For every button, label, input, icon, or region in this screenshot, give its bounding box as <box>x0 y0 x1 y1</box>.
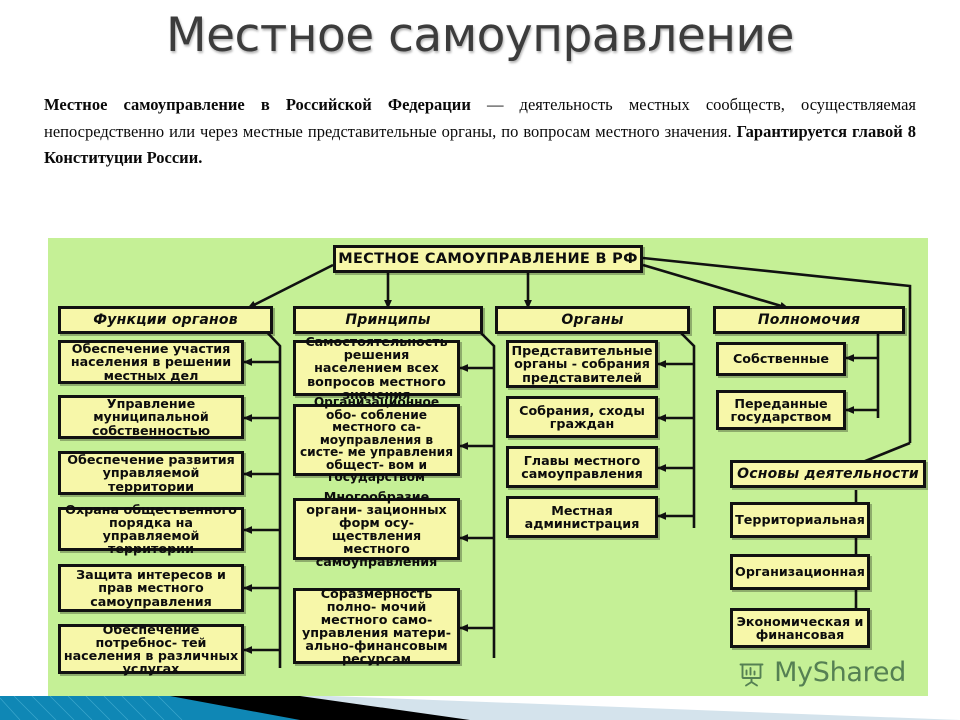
slide-page: Местное самоуправление Местное самоуправ… <box>0 0 960 720</box>
column-header-funkcii-organov[interactable]: Функции органов <box>58 306 273 334</box>
leaf-box[interactable]: Территориальная <box>730 502 870 538</box>
presentation-chart-icon <box>737 658 767 688</box>
leaf-box[interactable]: Местная администрация <box>506 496 658 538</box>
subblock-header-osnovy-deyatelnosti[interactable]: Основы деятельности <box>730 460 926 488</box>
leaf-box[interactable]: Управление муниципальной собственностью <box>58 395 244 439</box>
column-header-organy[interactable]: Органы <box>495 306 690 334</box>
column-header-polnomochiya[interactable]: Полномочия <box>713 306 905 334</box>
column-header-principy[interactable]: Принципы <box>293 306 483 334</box>
leaf-box[interactable]: Главы местного самоуправления <box>506 446 658 488</box>
intro-paragraph: Местное самоуправление в Российской Феде… <box>44 92 916 172</box>
leaf-box[interactable]: Обеспечение потребнос- тей населения в р… <box>58 624 244 674</box>
page-title: Местное самоуправление <box>0 8 960 63</box>
leaf-box[interactable]: Охрана общественного порядка на управляе… <box>58 507 244 551</box>
leaf-box[interactable]: Организационная <box>730 554 870 590</box>
diagram-root-box[interactable]: МЕСТНОЕ САМОУПРАВЛЕНИЕ В РФ <box>333 245 643 273</box>
leaf-box[interactable]: Переданные государством <box>716 390 846 430</box>
footer-decoration <box>0 696 960 720</box>
leaf-box[interactable]: Самостоятельность решения населением все… <box>293 340 460 396</box>
leaf-box[interactable]: Обеспечение участия населения в решении … <box>58 340 244 384</box>
leaf-box[interactable]: Обеспечение развития управляемой террито… <box>58 451 244 495</box>
leaf-box[interactable]: Защита интересов и прав местного самоупр… <box>58 564 244 612</box>
leaf-box[interactable]: Организационное обо- собление местного с… <box>293 404 460 476</box>
leaf-box[interactable]: Представительные органы - собрания предс… <box>506 340 658 388</box>
diagram-panel: МЕСТНОЕ САМОУПРАВЛЕНИЕ В РФ Функции орга… <box>48 238 928 696</box>
leaf-box[interactable]: Собрания, сходы граждан <box>506 396 658 438</box>
watermark-text: MyShared <box>774 657 906 688</box>
leaf-box[interactable]: Многообразие органи- зационных форм осу-… <box>293 498 460 560</box>
leaf-box[interactable]: Соразмерность полно- мочий местного само… <box>293 588 460 664</box>
leaf-box[interactable]: Экономическая и финансовая <box>730 608 870 648</box>
leaf-box[interactable]: Собственные <box>716 342 846 376</box>
watermark: MyShared <box>737 657 906 688</box>
